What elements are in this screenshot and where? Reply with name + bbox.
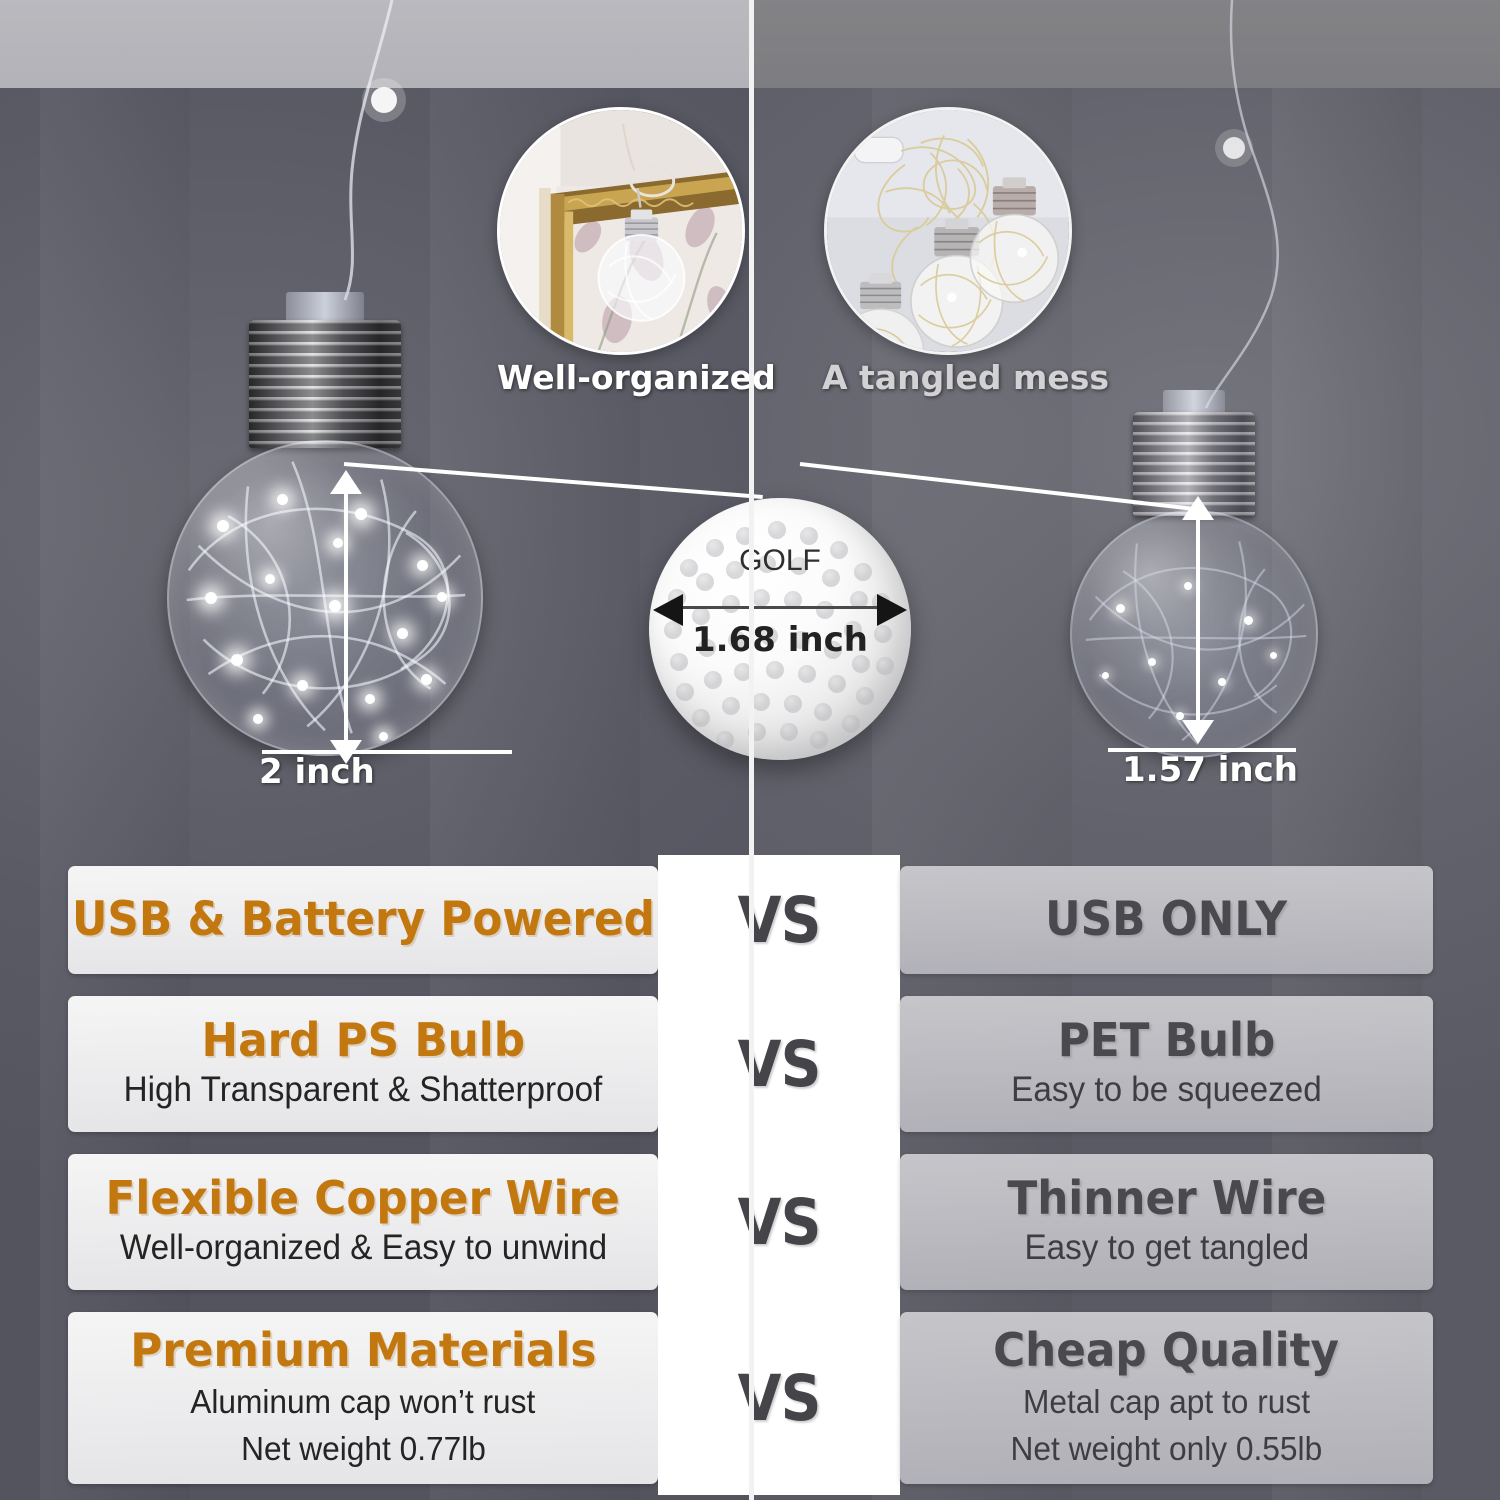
row-1-upgraded-sub: High Transparent & Shatterproof <box>124 1069 603 1112</box>
row-2-upgraded-cell: Flexible Copper Wire Well-organized & Ea… <box>68 1154 658 1290</box>
measurement-label-upgraded: 2 inch <box>259 752 375 792</box>
row-3-old-sub: Metal cap apt to rust <box>1023 1382 1310 1422</box>
row-0-upgraded-cell: USB & Battery Powered <box>68 866 658 974</box>
infographic-canvas: UPGRADED OLD <box>0 0 1500 1500</box>
header-band-upgraded <box>0 0 752 88</box>
center-divider <box>749 0 754 1500</box>
row-0-old-cell: USB ONLY <box>900 866 1433 974</box>
row-1-vs-band: VS <box>658 985 900 1143</box>
row-2-upgraded-sub: Well-organized & Easy to unwind <box>119 1227 606 1270</box>
row-3-upgraded-sub2: Net weight 0.77lb <box>241 1429 486 1469</box>
bulb-upgraded-cap <box>249 320 401 448</box>
row-2-old-cell: Thinner Wire Easy to get tangled <box>900 1154 1433 1290</box>
row-0-vs-band: VS <box>658 855 900 985</box>
bulb-upgraded-glass <box>167 440 483 756</box>
header-band-old <box>752 0 1500 88</box>
row-2-old-sub: Easy to get tangled <box>1024 1227 1309 1270</box>
measurement-label-old: 1.57 inch <box>1122 750 1298 790</box>
row-3-old-cell: Cheap Quality Metal cap apt to rust Net … <box>900 1312 1433 1484</box>
row-3-upgraded-cell: Premium Materials Aluminum cap won’t rus… <box>68 1312 658 1484</box>
row-1-old-title: PET Bulb <box>1058 1017 1276 1065</box>
golf-ball-reference: GOLF 1.68 inch <box>649 498 911 760</box>
inset-label-well-organized: Well-organized <box>497 358 747 397</box>
row-0-old-title: USB ONLY <box>1046 896 1288 945</box>
row-2-upgraded-title: Flexible Copper Wire <box>106 1175 620 1223</box>
golf-measure-line <box>681 606 879 609</box>
row-1-old-cell: PET Bulb Easy to be squeezed <box>900 996 1433 1132</box>
row-3-vs-band: VS <box>658 1301 900 1495</box>
row-3-old-title: Cheap Quality <box>994 1327 1340 1375</box>
row-3-old-sub2: Net weight only 0.55lb <box>1011 1429 1323 1469</box>
row-0-upgraded-title: USB & Battery Powered <box>72 896 655 945</box>
row-3-upgraded-title: Premium Materials <box>130 1327 596 1375</box>
row-2-vs-band: VS <box>658 1143 900 1301</box>
golf-ball-size-label: 1.68 inch <box>649 620 911 660</box>
inset-label-tangled-mess: A tangled mess <box>822 358 1074 397</box>
row-1-old-sub: Easy to be squeezed <box>1011 1069 1322 1112</box>
golf-ball-name: GOLF <box>649 544 911 578</box>
row-1-upgraded-title: Hard PS Bulb <box>201 1017 525 1065</box>
inset-well-organized <box>497 107 745 355</box>
bulb-upgraded <box>160 292 490 772</box>
row-1-upgraded-cell: Hard PS Bulb High Transparent & Shatterp… <box>68 996 658 1132</box>
inset-tangled-mess <box>824 107 1072 355</box>
row-2-old-title: Thinner Wire <box>1007 1175 1326 1223</box>
row-3-upgraded-sub: Aluminum cap won’t rust <box>190 1382 535 1422</box>
